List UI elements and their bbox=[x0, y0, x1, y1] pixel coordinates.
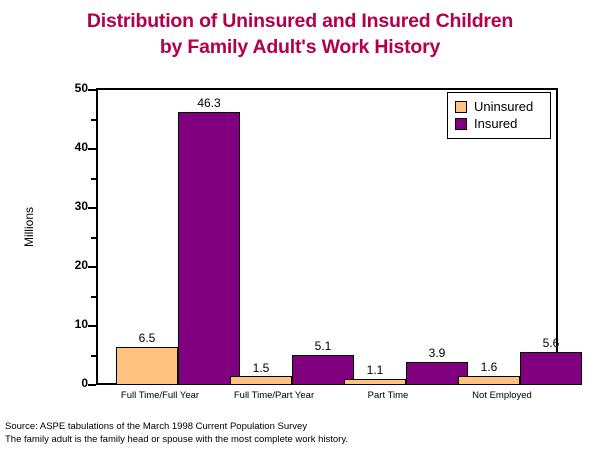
legend-swatch-uninsured bbox=[455, 101, 467, 113]
bar-value-uninsured-full-time-full-year: 6.5 bbox=[116, 332, 178, 344]
bar-uninsured-full-time-full-year[interactable] bbox=[116, 347, 178, 385]
chart-legend: Uninsured Insured bbox=[447, 92, 551, 139]
footnotes: Source: ASPE tabulations of the March 19… bbox=[5, 420, 565, 446]
bar-value-uninsured-not-employed: 1.6 bbox=[458, 361, 520, 373]
page-title: Distribution of Uninsured and Insured Ch… bbox=[0, 8, 600, 60]
y-tick-mark-major-40 bbox=[88, 148, 96, 150]
legend-label-uninsured: Uninsured bbox=[474, 100, 533, 113]
legend-swatch-insured bbox=[455, 118, 467, 130]
legend-item-insured[interactable]: Insured bbox=[455, 115, 544, 132]
bar-uninsured-part-time[interactable] bbox=[344, 379, 406, 386]
footnote-definition: The family adult is the family head or s… bbox=[5, 433, 565, 446]
y-tick-label-10: 10 bbox=[48, 318, 88, 330]
y-axis-tick-labels: 0 10 20 30 40 50 bbox=[46, 88, 88, 385]
y-tick-label-20: 20 bbox=[48, 259, 88, 271]
y-tick-label-40: 40 bbox=[48, 141, 88, 153]
bar-value-insured-full-time-part-year: 5.1 bbox=[292, 340, 354, 352]
bar-insured-full-time-full-year[interactable] bbox=[178, 112, 240, 385]
footnote-source: Source: ASPE tabulations of the March 19… bbox=[5, 420, 565, 433]
y-tick-mark-major-10 bbox=[88, 325, 96, 327]
bar-value-uninsured-part-time: 1.1 bbox=[344, 364, 406, 376]
y-tick-mark-minor-25 bbox=[91, 237, 96, 239]
y-tick-mark-minor-15 bbox=[91, 296, 96, 298]
bar-insured-not-employed[interactable] bbox=[520, 352, 582, 385]
bar-value-insured-full-time-full-year: 46.3 bbox=[178, 97, 240, 109]
x-axis-label-full-time-part-year: Full Time/Part Year bbox=[212, 390, 336, 401]
x-axis-label-not-employed: Not Employed bbox=[440, 390, 564, 401]
bar-uninsured-not-employed[interactable] bbox=[458, 376, 520, 385]
y-tick-label-30: 30 bbox=[48, 200, 88, 212]
y-tick-mark-major-0 bbox=[88, 384, 96, 386]
legend-item-uninsured[interactable]: Uninsured bbox=[455, 98, 544, 115]
x-axis-label-part-time: Part Time bbox=[326, 390, 450, 401]
y-tick-mark-minor-45 bbox=[91, 119, 96, 121]
x-axis-label-full-time-full-year: Full Time/Full Year bbox=[98, 390, 222, 401]
y-tick-mark-minor-35 bbox=[91, 178, 96, 180]
page-title-line-1: Distribution of Uninsured and Insured Ch… bbox=[0, 8, 600, 34]
y-tick-label-0: 0 bbox=[48, 377, 88, 389]
y-tick-mark-major-50 bbox=[88, 89, 96, 91]
y-axis-title: Millions bbox=[22, 182, 36, 272]
y-tick-mark-major-20 bbox=[88, 266, 96, 268]
y-tick-mark-major-30 bbox=[88, 207, 96, 209]
y-tick-label-50: 50 bbox=[48, 82, 88, 94]
y-tick-mark-minor-5 bbox=[91, 355, 96, 357]
legend-label-insured: Insured bbox=[474, 117, 517, 130]
bar-value-insured-not-employed: 5.6 bbox=[520, 337, 582, 349]
page-title-line-2: by Family Adult's Work History bbox=[0, 34, 600, 60]
bar-uninsured-full-time-part-year[interactable] bbox=[230, 376, 292, 385]
bar-value-uninsured-full-time-part-year: 1.5 bbox=[230, 362, 292, 374]
bar-value-insured-part-time: 3.9 bbox=[406, 347, 468, 359]
